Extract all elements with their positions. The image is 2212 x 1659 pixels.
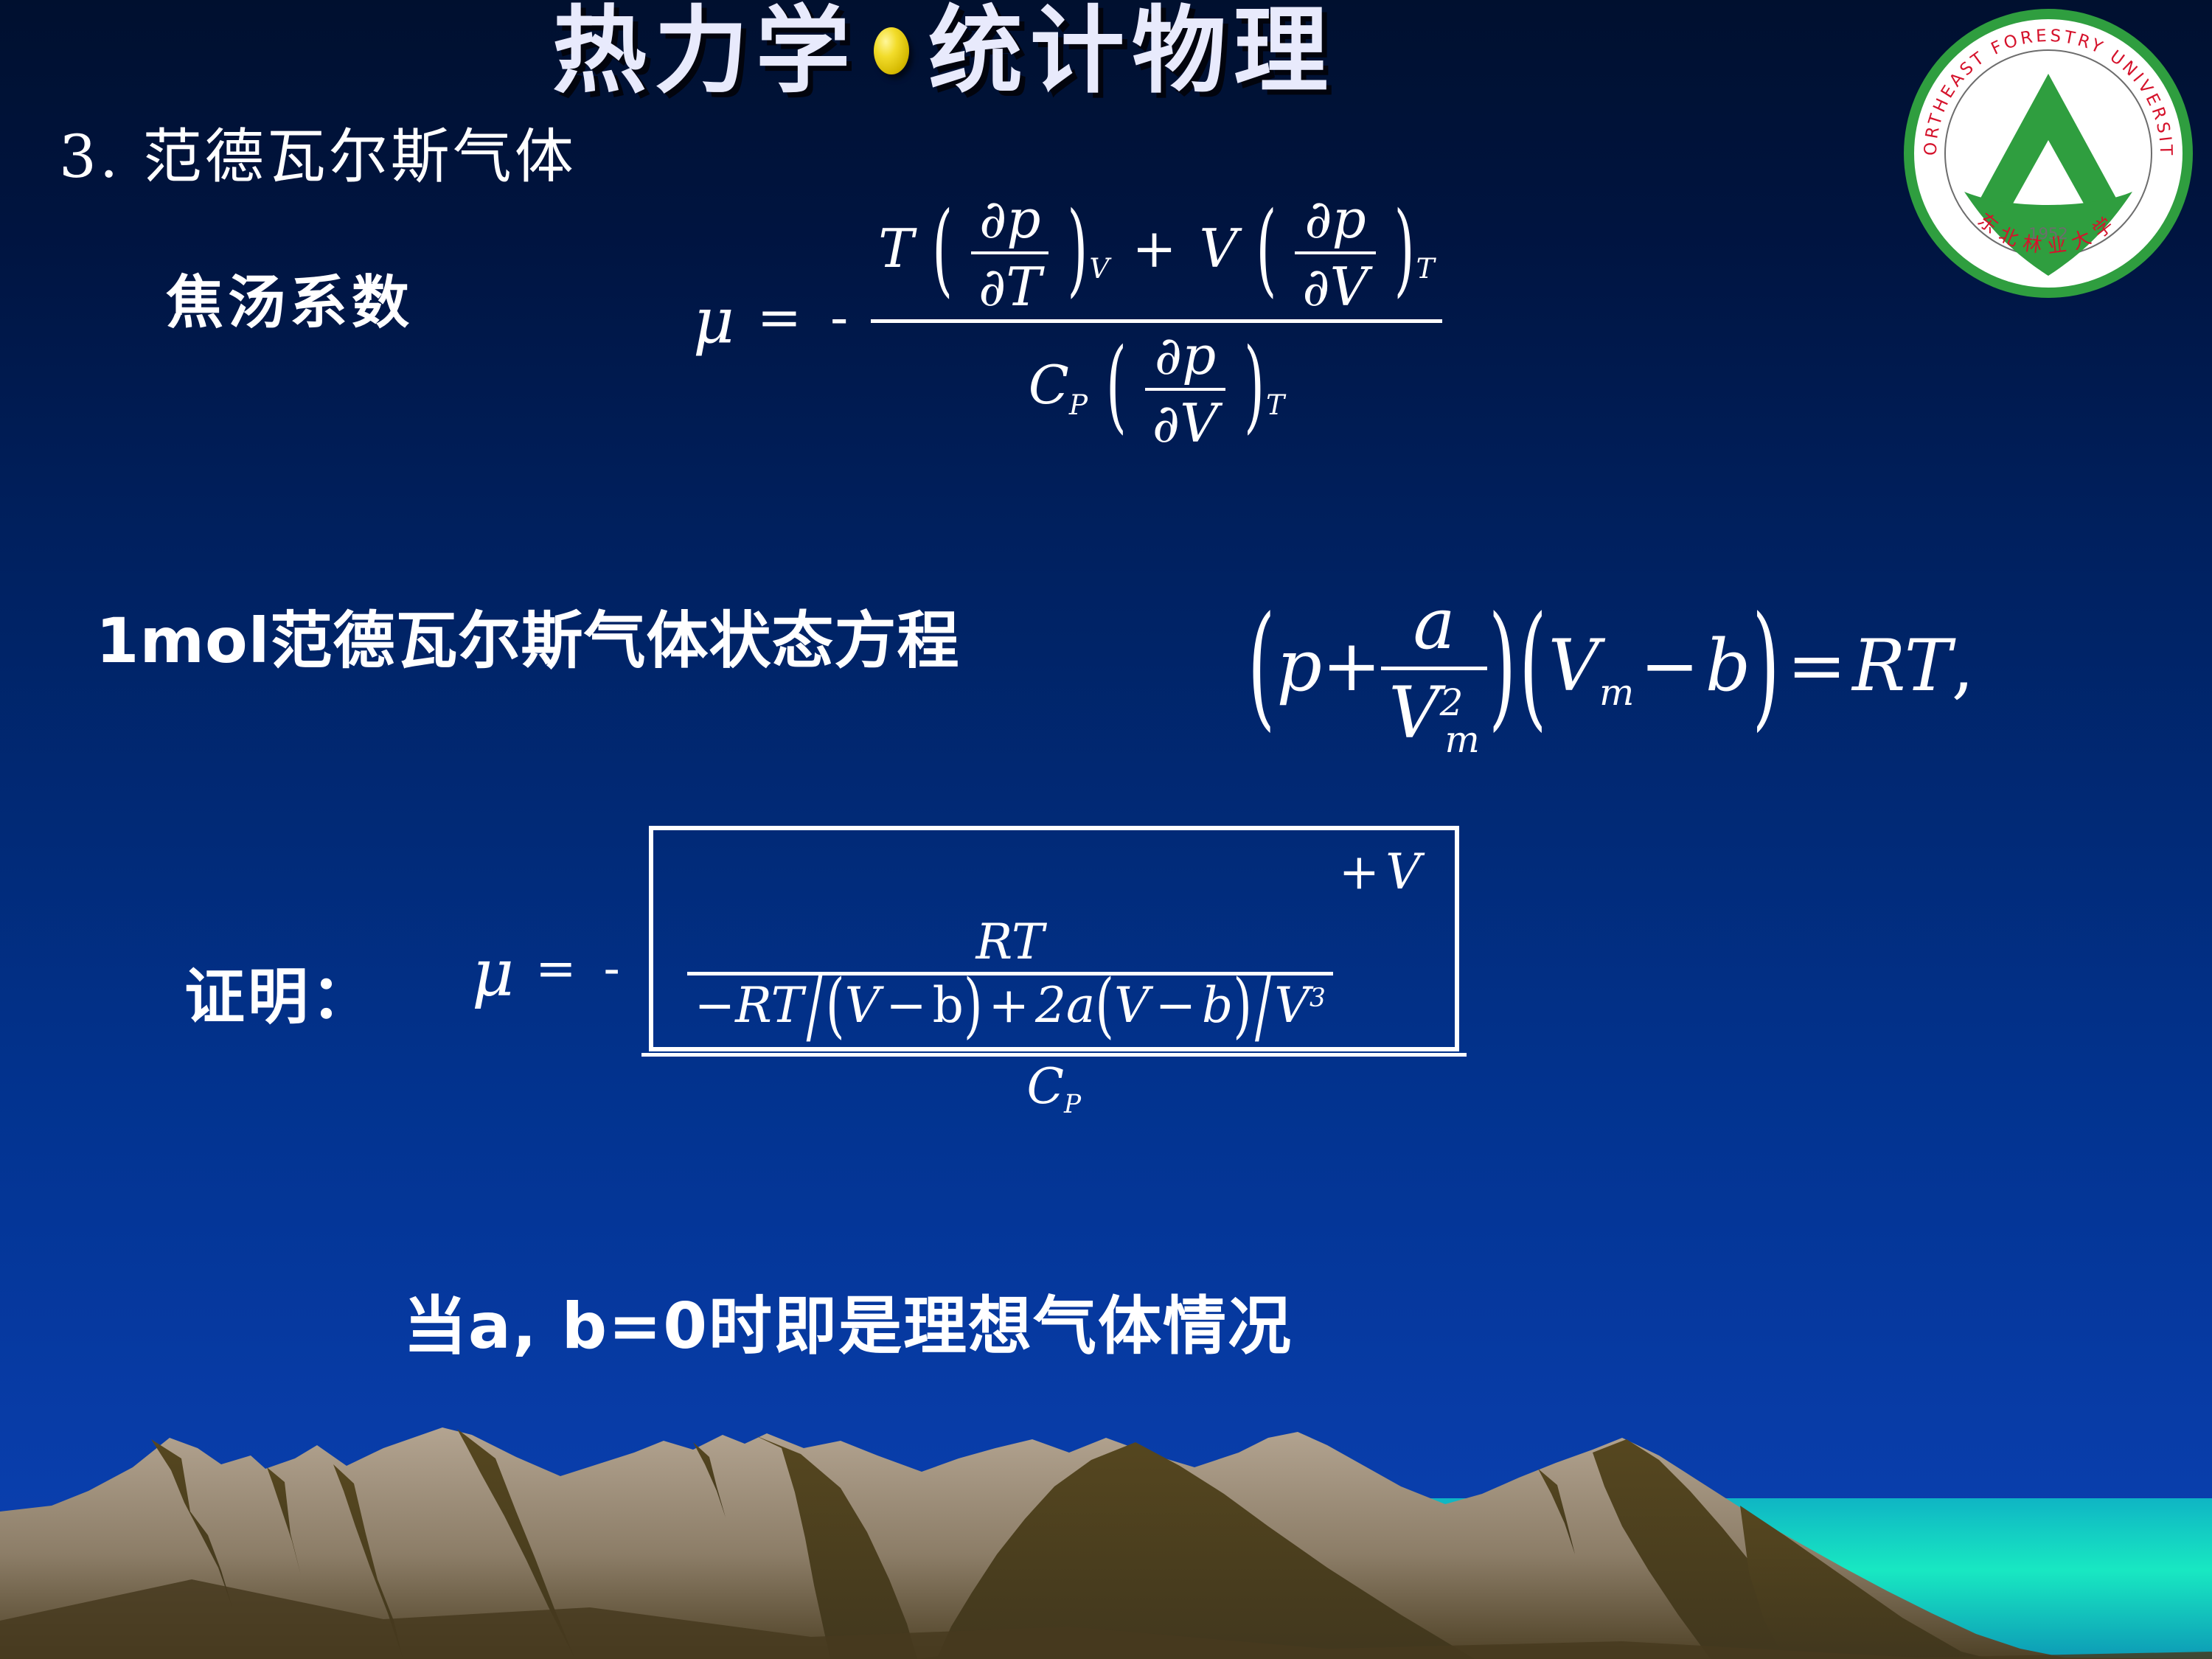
proof-den-b-2: b <box>1202 977 1233 1034</box>
proof-square-bracket-group: RT −RT/(V−b)+2a(V−b)/V3 +V <box>649 826 1459 1051</box>
vdw-Vm: V <box>1548 625 1599 707</box>
proof-den-slash-1: / <box>804 957 826 1054</box>
proof-plus-V-operator: + <box>1333 844 1385 900</box>
proof-den-V-3: V <box>1274 977 1310 1034</box>
jt-numerator: T ( ∂p ∂T )V + V ( ∂p ∂V )T <box>871 188 1441 319</box>
partial-p: ∂p <box>971 188 1048 251</box>
jt-num-V: V <box>1200 218 1238 279</box>
vdw-Vm-squared: V2m <box>1381 667 1486 761</box>
vdw-close-paren-2: ) <box>1752 588 1779 745</box>
proof-den-b-1: b <box>933 977 964 1034</box>
proof-den-open-paren-2: ( <box>1095 964 1114 1046</box>
northeast-forestry-university-logo: 1952 NORTHEAST FORESTRY UNIVERSITY 东北林业大… <box>1901 6 2196 301</box>
jt-num-sub-V: V <box>1089 252 1109 285</box>
vdw-minus: − <box>1634 625 1705 707</box>
jt-num-sub-T: T <box>1416 252 1435 285</box>
proof-den-close-paren-2: ) <box>1233 964 1252 1046</box>
vdw-RT: RT <box>1852 625 1952 707</box>
proof-outer-numerator: RT −RT/(V−b)+2a(V−b)/V3 +V <box>641 826 1467 1053</box>
proof-den-V-1: V <box>845 977 880 1034</box>
vdw-V: V <box>1388 672 1439 754</box>
vdw-a: a <box>1381 582 1486 667</box>
proof-den-open-paren-1: ( <box>826 964 845 1046</box>
proof-den-neg-RT: −RT <box>695 977 804 1034</box>
vdw-a-over-Vm-squared: a V2m <box>1381 582 1486 761</box>
partial-V-2: ∂V <box>1145 388 1225 454</box>
vdw-comma: , <box>1952 625 1975 707</box>
proof-inner-fraction: RT −RT/(V−b)+2a(V−b)/V3 <box>687 914 1333 1034</box>
jt-den-open-paren: ( <box>1106 326 1127 444</box>
jt-den-sub-T: T <box>1266 389 1284 421</box>
vdw-close-paren-1: ) <box>1489 588 1516 745</box>
proof-den-minus-2: − <box>1150 977 1202 1034</box>
jt-num-open-paren-1: ( <box>932 189 953 307</box>
partial-p-3: ∂p <box>1145 324 1225 388</box>
proof-den-minus-1: − <box>880 977 932 1034</box>
vdw-sub-m: m <box>1444 718 1479 761</box>
proof-label: 证明： <box>184 947 375 1035</box>
proof-equals-sign: = <box>529 940 582 997</box>
vdw-Vm-sub-m: m <box>1599 671 1634 714</box>
partial-T: ∂T <box>971 251 1048 318</box>
van-der-waals-equation-label: 1mol范德瓦尔斯气体状态方程 <box>96 591 959 681</box>
vdw-p: p <box>1276 625 1321 707</box>
section-heading: 3. 范德瓦尔斯气体 <box>59 109 577 195</box>
minus-sign: - <box>824 286 854 348</box>
proof-den-close-paren-1: ) <box>964 964 983 1046</box>
jt-num-open-paren-2: ( <box>1256 189 1276 307</box>
mu-symbol: μ <box>693 285 734 358</box>
proof-inner-denominator: −RT/(V−b)+2a(V−b)/V3 <box>687 972 1333 1034</box>
conclusion-text: 当a, b=0时即是理想气体情况 <box>0 1274 1696 1366</box>
formula-proof-expression: μ = - RT −RT/(V−b)+2a(V−b)/V3 +V CP <box>472 826 1467 1119</box>
vdw-open-paren-1: ( <box>1248 588 1275 745</box>
jt-den-close-paren: ) <box>1244 326 1265 444</box>
vdw-equals: = <box>1781 625 1852 707</box>
jt-num-partial-p-partial-T: ∂p ∂T <box>971 188 1048 318</box>
formula-van-der-waals-state-equation: (p+ a V2m )(Vm−b)=RT, <box>1246 582 1974 761</box>
slide-title-part-2: 统计物理 <box>928 0 1335 106</box>
proof-den-2a: 2a <box>1035 977 1095 1034</box>
jt-num-T: T <box>878 218 914 279</box>
jt-num-close-paren-1: ) <box>1067 189 1088 307</box>
vdw-plus: + <box>1322 625 1381 707</box>
joule-thomson-label: 焦汤系数 <box>166 257 414 339</box>
slide-title-part-1: 热力学 <box>552 0 858 106</box>
jt-num-plus: + <box>1126 218 1182 279</box>
mountain-range-icon <box>0 1423 2212 1659</box>
equals-sign: = <box>751 286 807 348</box>
proof-den-V-2: V <box>1114 977 1150 1034</box>
vdw-open-paren-2: ( <box>1519 588 1546 745</box>
formula-joule-thomson-coefficient: μ = - T ( ∂p ∂T )V + V ( ∂p ∂V )T <box>693 188 1442 454</box>
proof-den-plus: + <box>983 977 1035 1034</box>
jt-den-C: C <box>1029 354 1069 416</box>
proof-bracket-contents: RT −RT/(V−b)+2a(V−b)/V3 +V <box>665 844 1443 1034</box>
jt-den-partial-p-partial-V: ∂p ∂V <box>1145 324 1225 454</box>
proof-den-slash-2: / <box>1252 957 1274 1054</box>
jt-denominator: CP ( ∂p ∂V )T <box>871 319 1441 454</box>
proof-inner-numerator: RT <box>687 914 1333 972</box>
proof-outer-denominator: CP <box>641 1053 1467 1120</box>
proof-Cp-sub-P: P <box>1064 1090 1081 1119</box>
proof-den-exponent-3: 3 <box>1310 984 1326 1013</box>
yellow-dot-separator-icon <box>874 27 909 74</box>
proof-plus-V-term: V <box>1385 844 1421 900</box>
partial-p-2: ∂p <box>1295 188 1375 251</box>
vdw-b: b <box>1705 625 1750 707</box>
university-seal-icon: 1952 NORTHEAST FORESTRY UNIVERSITY 东北林业大… <box>1901 6 2196 301</box>
page-title: 热力学统计物理 <box>552 4 1335 99</box>
jt-den-C-sub-P: P <box>1069 389 1088 421</box>
proof-outer-fraction: RT −RT/(V−b)+2a(V−b)/V3 +V CP <box>641 826 1467 1119</box>
slide-canvas: 热力学统计物理 1952 NORTHEAST FORESTRY UNIVERSI… <box>0 0 2212 1659</box>
proof-minus-sign: - <box>597 940 625 997</box>
proof-Cp-C: C <box>1026 1058 1064 1115</box>
proof-mu-symbol: μ <box>472 935 514 1011</box>
mountain-scenery-decoration <box>0 1423 2212 1659</box>
slide-title-block: 热力学统计物理 <box>0 0 1888 99</box>
jt-num-partial-p-partial-V: ∂p ∂V <box>1295 188 1375 318</box>
partial-V: ∂V <box>1295 251 1375 318</box>
jt-num-close-paren-2: ) <box>1394 189 1415 307</box>
jt-main-fraction: T ( ∂p ∂T )V + V ( ∂p ∂V )T CP ( <box>871 188 1441 454</box>
